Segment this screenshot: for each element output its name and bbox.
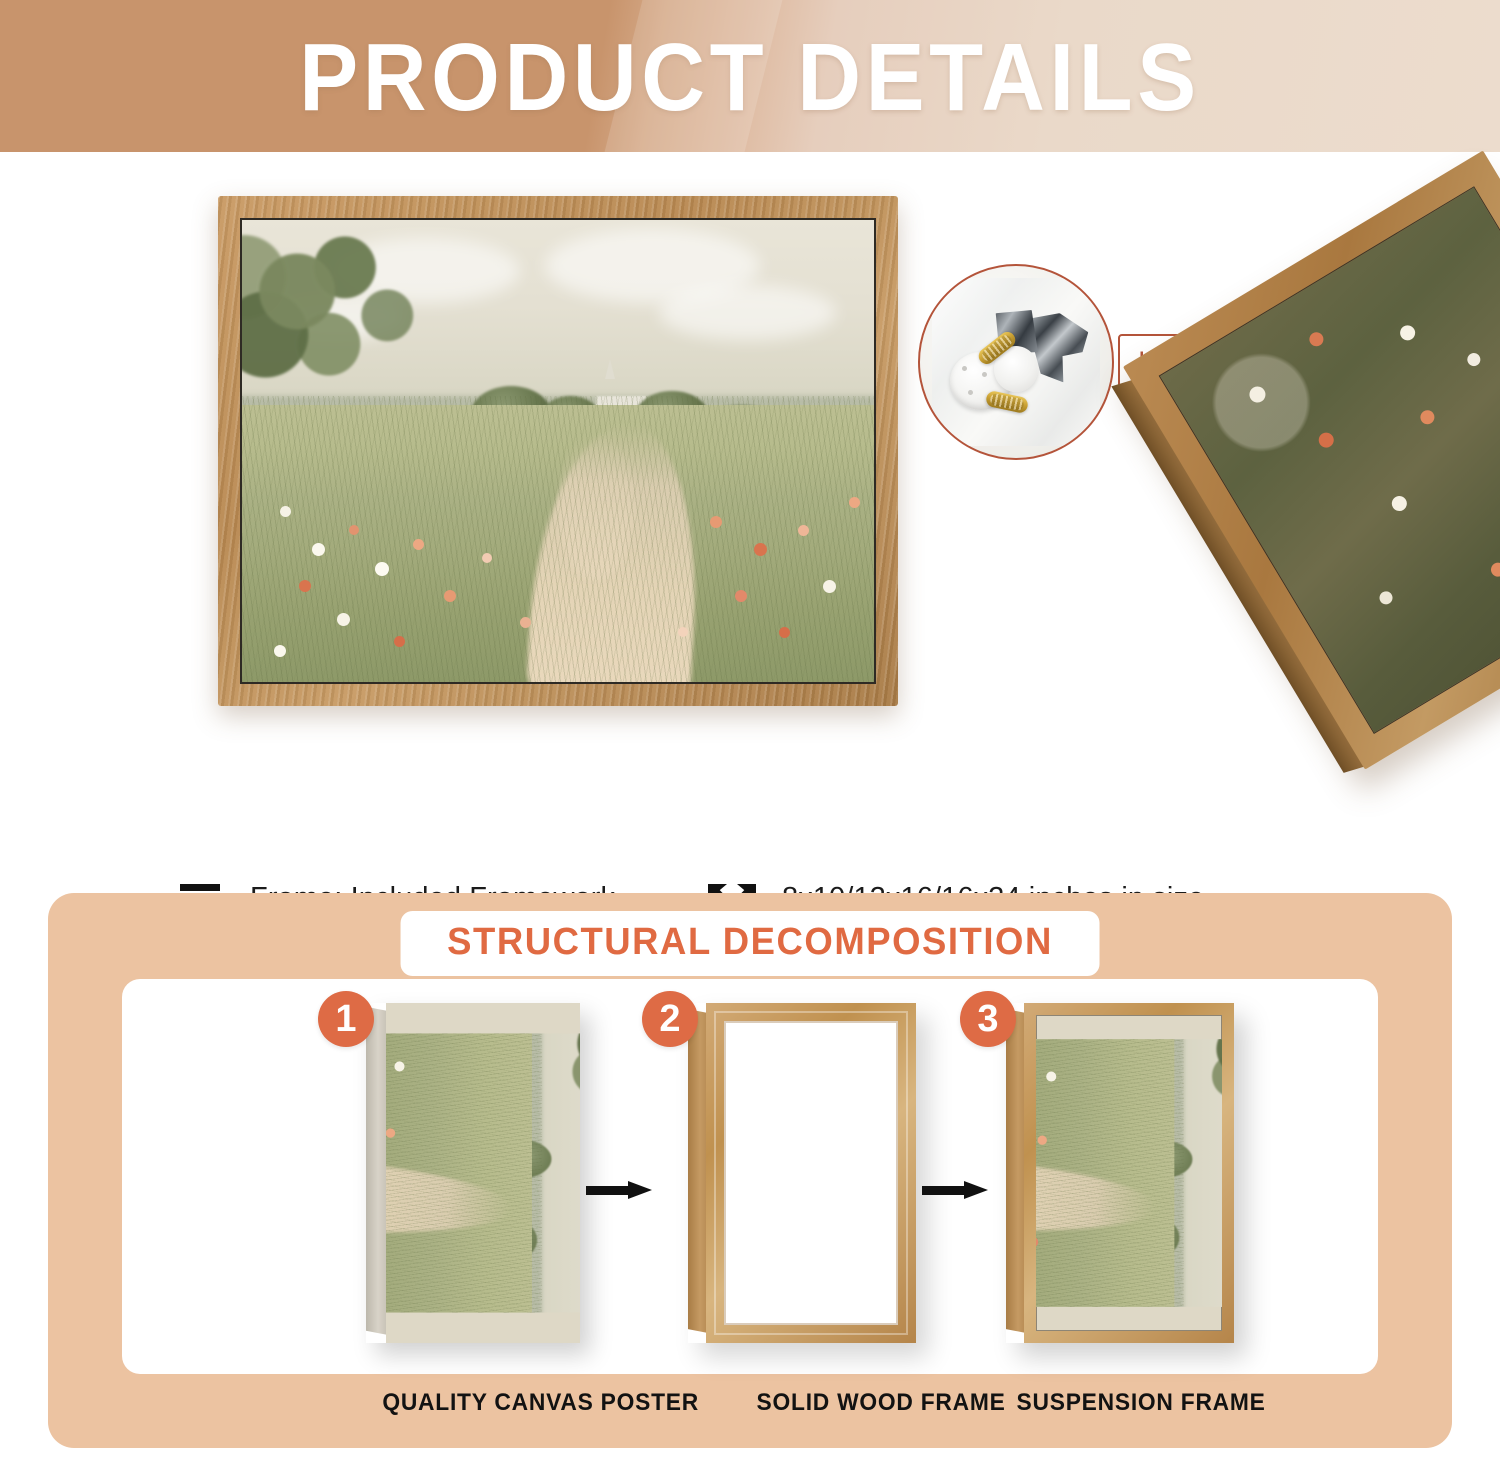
decomposition-step-2: 2 (634, 979, 954, 1374)
installation-package-photo (918, 264, 1114, 460)
suspension-frame-object (1006, 1003, 1234, 1343)
page-title: PRODUCT DETAILS (60, 26, 1440, 130)
decomposition-step-1: 1 (318, 979, 618, 1374)
meadow-painting (242, 220, 874, 682)
caption-step-2: SOLID WOOD FRAME (757, 1389, 1006, 1417)
step-badge-2: 2 (642, 991, 698, 1047)
structural-decomposition-panel: STRUCTURAL DECOMPOSITION 1 (48, 893, 1452, 1448)
hero-section: Installation package (0, 152, 1500, 892)
bare-canvas-object (366, 1003, 580, 1343)
decomposition-step-3: 3 (950, 979, 1250, 1374)
page-header: PRODUCT DETAILS (0, 0, 1500, 152)
decomposition-title-pill: STRUCTURAL DECOMPOSITION (401, 911, 1100, 976)
caption-step-1: QUALITY CANVAS POSTER (382, 1389, 699, 1417)
step-badge-3: 3 (960, 991, 1016, 1047)
frame-corner-detail (1123, 151, 1500, 770)
decomposition-title: STRUCTURAL DECOMPOSITION (447, 921, 1053, 964)
step-badge-1: 1 (318, 991, 374, 1047)
caption-step-3: SUSPENSION FRAME (1017, 1389, 1266, 1417)
decomposition-stage: 1 (122, 979, 1378, 1374)
decomposition-captions: QUALITY CANVAS POSTER SOLID WOOD FRAME S… (122, 1389, 1378, 1429)
artwork-canvas (240, 218, 876, 684)
empty-wood-frame-object (688, 1003, 916, 1343)
main-framed-artwork (218, 196, 898, 706)
